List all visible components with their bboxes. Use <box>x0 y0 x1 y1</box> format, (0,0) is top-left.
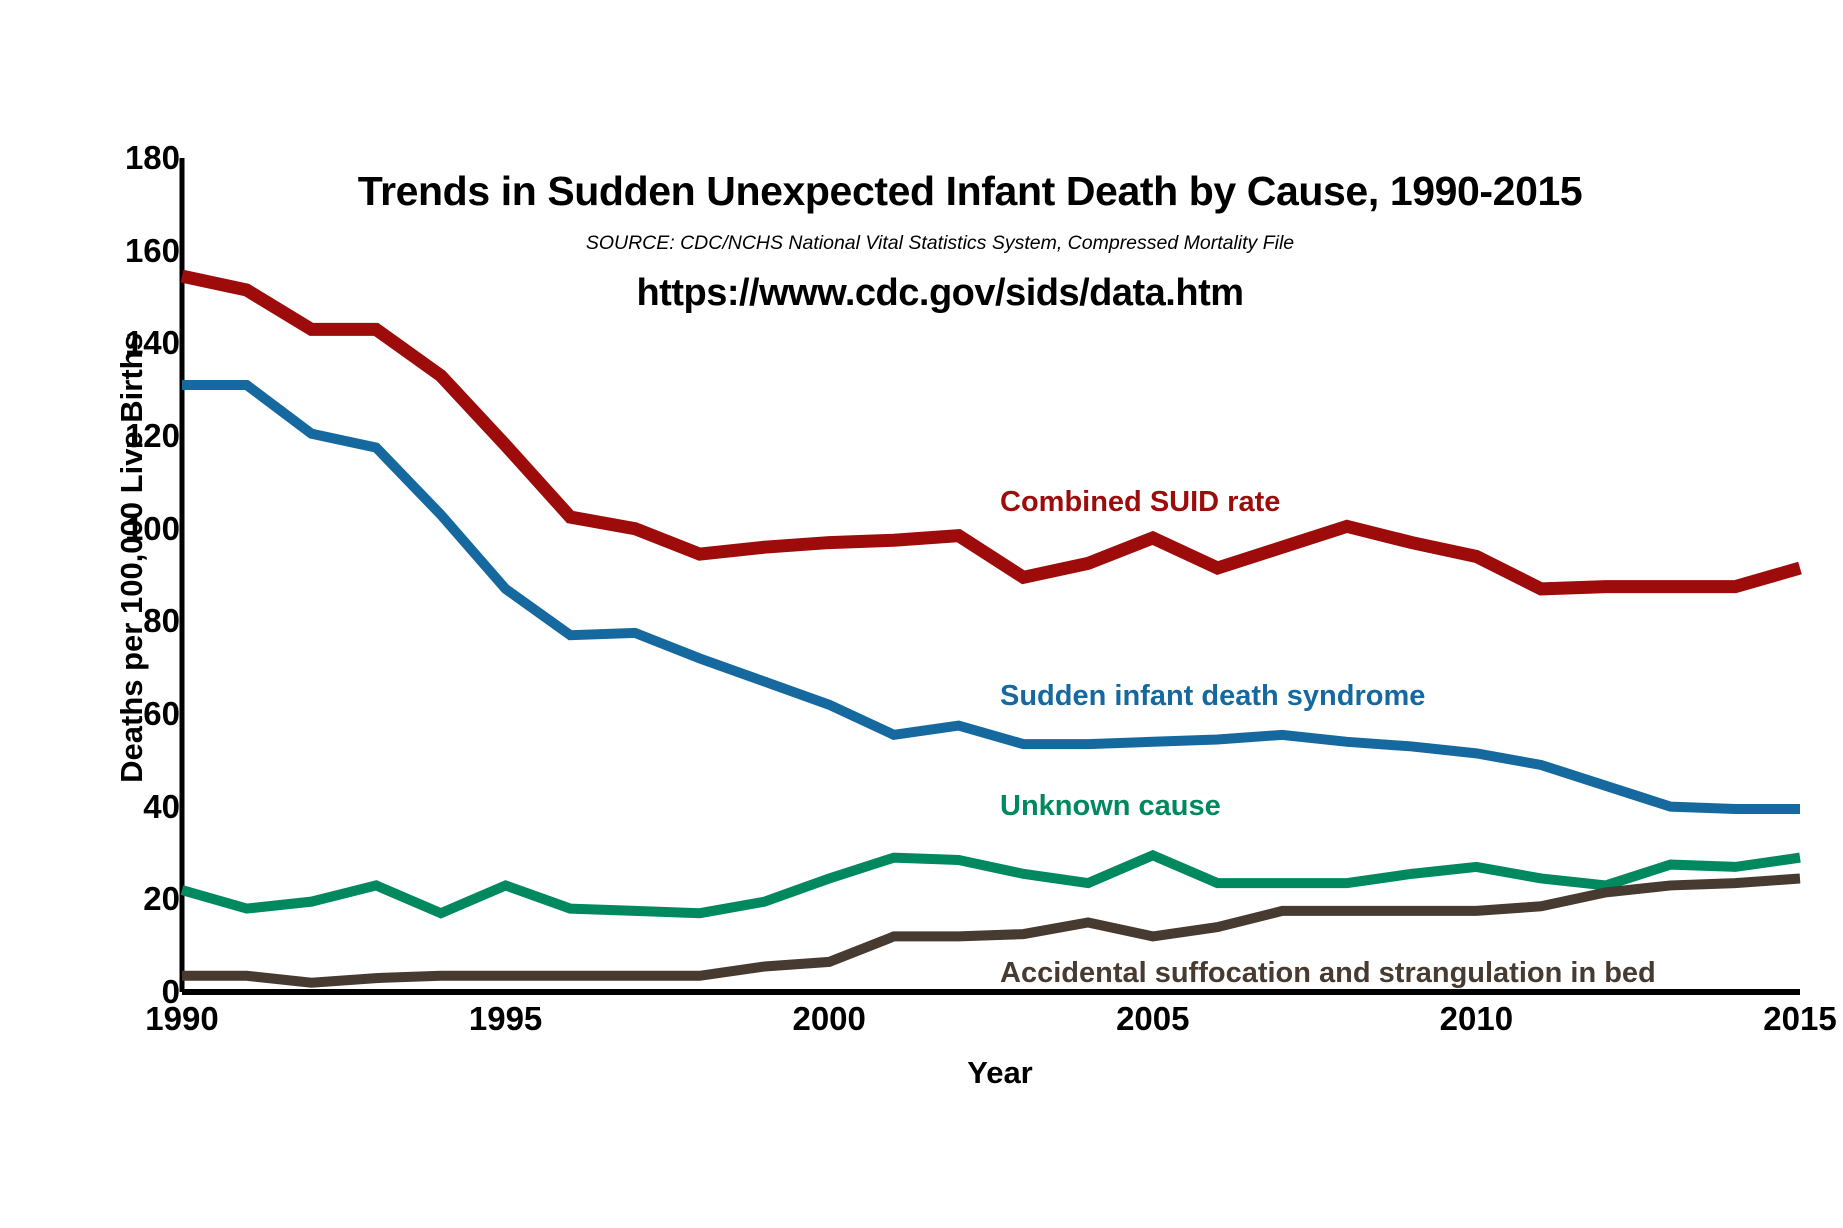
series-label-accidental-suffocation: Accidental suffocation and strangulation… <box>1000 957 1656 990</box>
series-label-sids: Sudden infant death syndrome <box>1000 680 1425 713</box>
plot-area <box>0 0 1843 1228</box>
series-lines <box>182 276 1800 983</box>
series-line <box>182 276 1800 589</box>
series-label-combined-suid: Combined SUID rate <box>1000 486 1280 519</box>
chart-canvas: Trends in Sudden Unexpected Infant Death… <box>0 0 1843 1228</box>
series-line <box>182 385 1800 809</box>
series-label-unknown-cause: Unknown cause <box>1000 790 1221 823</box>
